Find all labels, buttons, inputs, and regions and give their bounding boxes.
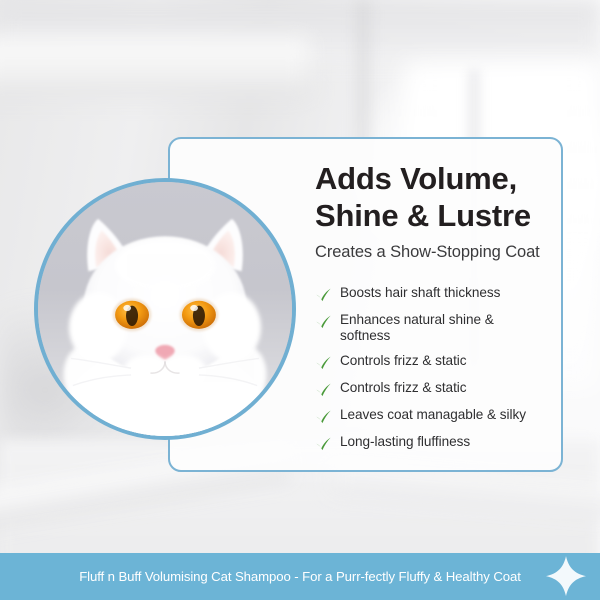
cat-photo (38, 182, 292, 436)
benefit-label: Controls frizz & static (340, 380, 467, 396)
green-check-icon (315, 314, 332, 329)
green-check-icon (315, 382, 332, 397)
list-item: Enhances natural shine & softness (315, 312, 545, 343)
benefit-label: Controls frizz & static (340, 353, 467, 369)
content-card-body: Adds Volume, Shine & Lustre Creates a Sh… (315, 161, 545, 461)
cat-photo-circle (34, 178, 296, 440)
product-poster: Adds Volume, Shine & Lustre Creates a Sh… (0, 0, 600, 600)
benefits-list: Boosts hair shaft thickness Enhances nat… (315, 285, 545, 451)
headline-line-2: Shine & Lustre (315, 198, 531, 233)
benefit-label: Leaves coat managable & silky (340, 407, 526, 423)
benefit-label: Long-lasting fluffiness (340, 434, 470, 450)
list-item: Controls frizz & static (315, 380, 545, 397)
footer-banner: Fluff n Buff Volumising Cat Shampoo - Fo… (0, 553, 600, 600)
list-item: Controls frizz & static (315, 353, 545, 370)
list-item: Long-lasting fluffiness (315, 434, 545, 451)
list-item: Leaves coat managable & silky (315, 407, 545, 424)
list-item: Boosts hair shaft thickness (315, 285, 545, 302)
benefit-label: Boosts hair shaft thickness (340, 285, 500, 301)
headline-line-1: Adds Volume, (315, 161, 517, 196)
sparkle-star-icon (544, 554, 588, 598)
green-check-icon (315, 409, 332, 424)
benefit-label: Enhances natural shine & softness (340, 312, 545, 343)
page-title: Adds Volume, Shine & Lustre (315, 161, 545, 234)
background-ceiling-slab (0, 38, 310, 96)
subheadline: Creates a Show-Stopping Coat (315, 243, 545, 262)
footer-tagline: Fluff n Buff Volumising Cat Shampoo - Fo… (79, 569, 521, 584)
green-check-icon (315, 355, 332, 370)
green-check-icon (315, 436, 332, 451)
green-check-icon (315, 287, 332, 302)
